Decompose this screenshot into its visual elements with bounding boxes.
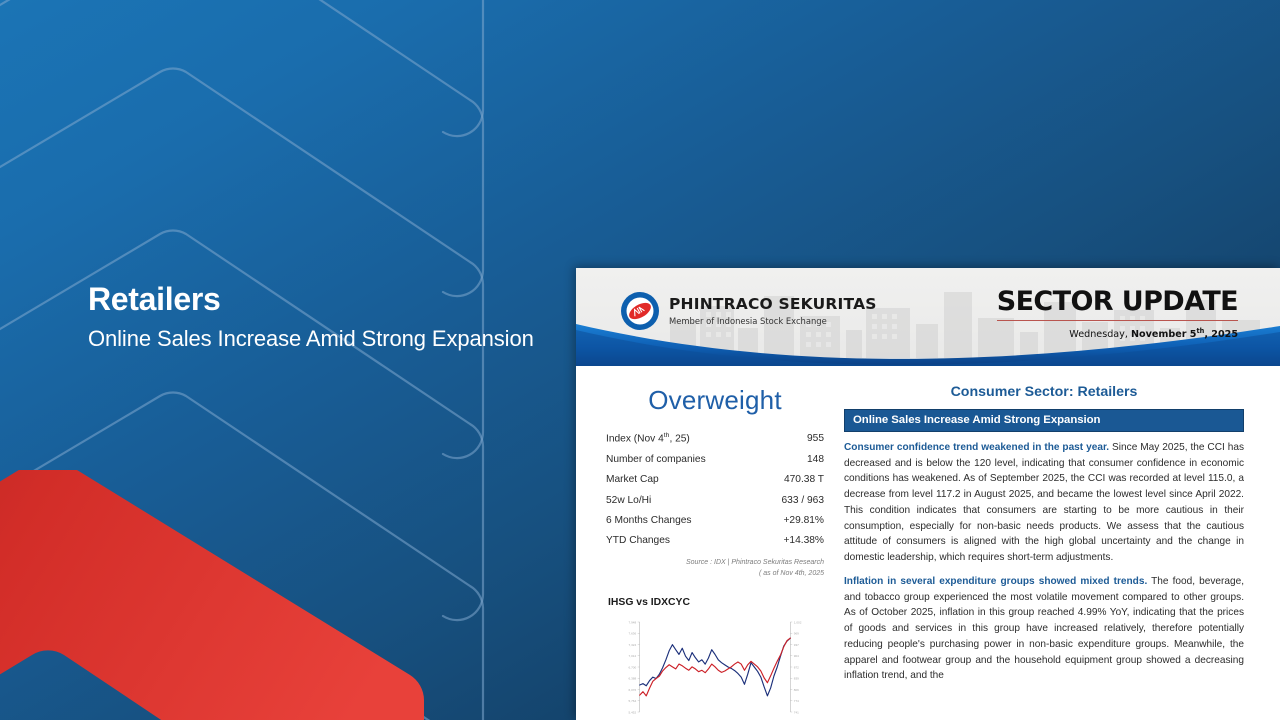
stat-label: Index (Nov 4th, 25): [606, 428, 759, 450]
stat-value: 633 / 963: [759, 490, 824, 510]
table-row: Market Cap 470.38 T: [606, 470, 824, 490]
article-paragraph: Consumer confidence trend weakened in th…: [844, 440, 1244, 566]
paragraph-body: The food, beverage, and tobacco group ex…: [844, 576, 1244, 681]
document-title-block: SECTOR UPDATE Wednesday, November 5th, 2…: [997, 288, 1238, 340]
svg-text:5,764: 5,764: [629, 699, 637, 703]
table-row: 52w Lo/Hi 633 / 963: [606, 490, 824, 510]
svg-text:6,388: 6,388: [629, 677, 637, 681]
svg-text:904: 904: [794, 654, 799, 658]
svg-text:7,948: 7,948: [629, 621, 637, 625]
stat-value: +14.38%: [759, 531, 824, 551]
page-title: Retailers: [88, 281, 548, 319]
date-suffix: , 2025: [1204, 329, 1238, 340]
stat-value: 955: [759, 428, 824, 450]
highlight-bar: Online Sales Increase Amid Strong Expans…: [844, 409, 1244, 432]
document-body: Overweight Index (Nov 4th, 25) 955 Numbe…: [576, 366, 1280, 720]
stat-value: 470.38 T: [759, 470, 824, 490]
stat-value: 148: [759, 450, 824, 470]
table-row: Number of companies 148: [606, 450, 824, 470]
paragraph-body: Since May 2025, the CCI has decreased an…: [844, 442, 1244, 563]
stat-value: +29.81%: [759, 511, 824, 531]
table-row: Index (Nov 4th, 25) 955: [606, 428, 824, 450]
source-line-1: Source : IDX | Phintraco Sekuritas Resea…: [606, 558, 824, 569]
ihsg-vs-idxcyc-chart: 7,9487,6367,3247,0126,7006,3886,0765,764…: [606, 612, 824, 720]
svg-text:7,324: 7,324: [629, 643, 637, 647]
date-prefix: Wednesday,: [1069, 329, 1131, 340]
table-row: YTD Changes +14.38%: [606, 531, 824, 551]
svg-text:7,012: 7,012: [629, 654, 637, 658]
svg-text:5,452: 5,452: [629, 711, 637, 715]
paragraph-lead: Inflation in several expenditure groups …: [844, 576, 1147, 587]
brand-name: PHINTRACO SEKURITAS: [669, 296, 877, 313]
title-rule: [997, 320, 1238, 321]
source-line-2: ( as of Nov 4th, 2025: [606, 569, 824, 580]
document-title: SECTOR UPDATE: [997, 288, 1238, 315]
svg-text:6,700: 6,700: [629, 666, 637, 670]
svg-text:806: 806: [794, 688, 799, 692]
chart-title: IHSG vs IDXCYC: [608, 597, 824, 608]
source-note: Source : IDX | Phintraco Sekuritas Resea…: [606, 558, 824, 579]
stat-label: Market Cap: [606, 470, 759, 490]
stat-label: 6 Months Changes: [606, 511, 759, 531]
svg-text:969: 969: [794, 632, 799, 636]
slide-text-block: Retailers Online Sales Increase Amid Str…: [88, 281, 548, 355]
svg-text:7,636: 7,636: [629, 632, 637, 636]
stat-label: YTD Changes: [606, 531, 759, 551]
sector-statistics-table: Index (Nov 4th, 25) 955 Number of compan…: [606, 428, 824, 551]
svg-text:872: 872: [794, 666, 799, 670]
red-chevron-graphic: [0, 470, 450, 720]
document-date: Wednesday, November 5th, 2025: [997, 327, 1238, 340]
brand-subtitle: Member of Indonesia Stock Exchange: [669, 316, 877, 326]
phintraco-logo-icon: [620, 291, 660, 331]
table-row: 6 Months Changes +29.81%: [606, 511, 824, 531]
article-paragraph: Inflation in several expenditure groups …: [844, 574, 1244, 684]
svg-text:6,076: 6,076: [629, 688, 637, 692]
stat-label: Number of companies: [606, 450, 759, 470]
section-heading: Consumer Sector: Retailers: [844, 384, 1244, 400]
svg-text:774: 774: [794, 699, 799, 703]
slide-canvas: Retailers Online Sales Increase Amid Str…: [0, 0, 1280, 720]
document-header: PHINTRACO SEKURITAS Member of Indonesia …: [576, 268, 1280, 366]
date-main: November 5: [1131, 329, 1197, 340]
brand-lockup: PHINTRACO SEKURITAS Member of Indonesia …: [620, 291, 877, 331]
svg-text:741: 741: [794, 711, 799, 715]
svg-text:839: 839: [794, 677, 799, 681]
rating-label: Overweight: [606, 385, 824, 416]
paragraph-lead: Consumer confidence trend weakened in th…: [844, 442, 1109, 453]
article-column: Consumer Sector: Retailers Online Sales …: [844, 380, 1244, 720]
page-subtitle: Online Sales Increase Amid Strong Expans…: [88, 323, 548, 355]
svg-text:937: 937: [794, 643, 799, 647]
stat-label: 52w Lo/Hi: [606, 490, 759, 510]
svg-text:1,002: 1,002: [794, 621, 802, 625]
document-preview-panel[interactable]: PHINTRACO SEKURITAS Member of Indonesia …: [576, 268, 1280, 720]
statistics-column: Overweight Index (Nov 4th, 25) 955 Numbe…: [606, 380, 824, 720]
